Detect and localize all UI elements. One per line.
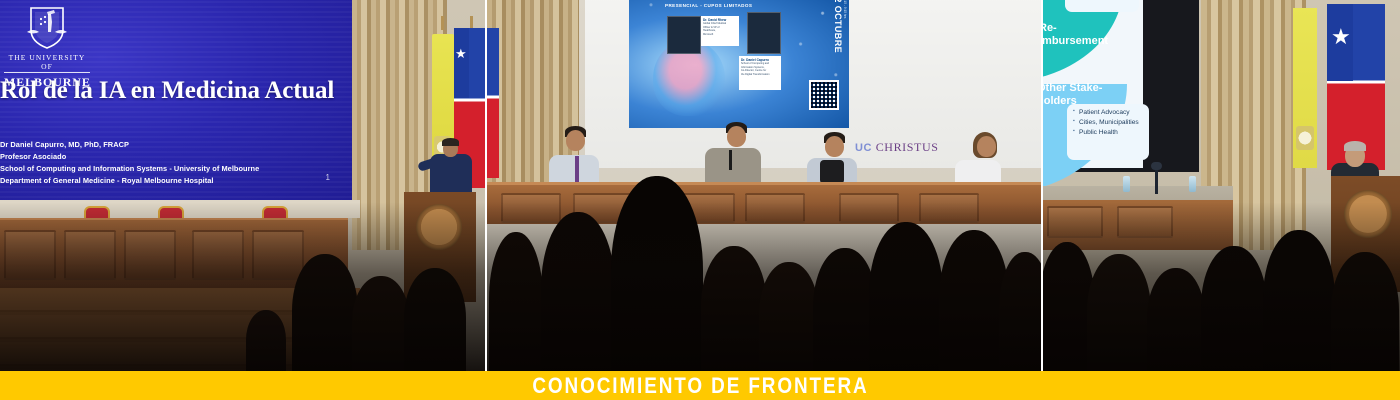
- speaker-head: [443, 140, 458, 157]
- poster-date-detail: 08:15 - 9:15 hrs: [843, 0, 847, 18]
- speaker-hair: [1344, 141, 1366, 151]
- callout-stakeholder-list: Patient Advocacy Cities, Municipalities …: [1067, 104, 1149, 160]
- panel-table: [487, 182, 1043, 224]
- logo-name: CHRISTUS: [876, 140, 939, 154]
- speaker-affiliation: Global Chief Medical Officer & VP of Hea…: [703, 22, 737, 37]
- university-seal-icon: [1344, 190, 1392, 238]
- speaker-photo: [747, 12, 781, 54]
- university-crest-icon: [21, 0, 73, 52]
- callout-philanthropy: Philanthropy: [1065, 0, 1139, 12]
- chile-flag: [487, 28, 499, 178]
- panel-3-photo: Re-imbursement Other Stake-holders Phila…: [1043, 0, 1400, 372]
- carved-podium: [1331, 176, 1400, 292]
- speaker-card: Dr. Daniel Capurro School of Computing a…: [739, 56, 781, 90]
- university-seal-icon: [416, 204, 462, 250]
- vatican-flag: [1293, 8, 1317, 168]
- speaker-card: Dr. David Rhew Global Chief Medical Offi…: [701, 16, 739, 46]
- subtitle-line-3: School of Computing and Information Syst…: [0, 163, 340, 175]
- logo-line-1: THE UNIVERSITY OF: [4, 53, 90, 73]
- flag-pole: [441, 16, 444, 30]
- callout-item: Cities, Municipalities: [1073, 118, 1143, 128]
- poster-availability: PRESENCIAL - CUPOS LIMITADOS: [665, 3, 752, 8]
- slide-number: 1: [326, 173, 330, 182]
- slide-title: Rol de la IA en Medicina Actual: [0, 78, 348, 103]
- uc-christus-logo: UC CHRISTUS: [855, 140, 939, 155]
- subtitle-line-2: Profesor Asociado: [0, 151, 340, 163]
- banner-text: CONOCIMIENTO DE FRONTERA: [532, 373, 868, 399]
- microphone: [1155, 168, 1158, 194]
- poster-header: Division de Medicina Centro de Informati…: [663, 0, 813, 1]
- water-bottle: [1189, 176, 1196, 192]
- speaker-affiliation: School of Computing and Information Syst…: [741, 62, 779, 77]
- collage-stage: THE UNIVERSITY OF MELBOURNE Rol de la IA…: [0, 0, 1400, 400]
- slide-subtitle-block: Dr Daniel Capurro, MD, PhD, FRACP Profes…: [0, 139, 340, 187]
- speaker-photo: [667, 16, 701, 54]
- projected-event-poster: Division de Medicina Centro de Informati…: [629, 0, 849, 128]
- water-bottle: [1123, 176, 1130, 192]
- bottom-banner: CONOCIMIENTO DE FRONTERA: [0, 371, 1400, 400]
- logo-prefix: UC: [855, 142, 872, 154]
- wooden-bench: [0, 218, 348, 290]
- carved-podium: [404, 192, 476, 302]
- poster-date: 02 OCTUBRE: [833, 0, 843, 53]
- speaker-name: Dr. Daniel Capurro: [741, 58, 769, 62]
- speaker-name: Dr. David Rhew: [703, 18, 726, 22]
- donut-label-reimbursement: Re-imbursement: [1043, 22, 1111, 47]
- subtitle-line-4: Department of General Medicine - Royal M…: [0, 175, 340, 187]
- callout-item: Patient Advocacy: [1073, 108, 1143, 118]
- callout-item: Public Health: [1073, 128, 1143, 138]
- panel-2-photo: Division de Medicina Centro de Informati…: [487, 0, 1043, 372]
- wooden-bench: [1043, 200, 1233, 250]
- microphone-head: [1151, 162, 1162, 170]
- qr-code-icon: [809, 80, 839, 110]
- wooden-steps: [0, 288, 360, 372]
- poster-header-line-2: Centro de Informatica: [663, 0, 813, 1]
- subtitle-line-1: Dr Daniel Capurro, MD, PhD, FRACP: [0, 139, 340, 151]
- projected-title-slide: THE UNIVERSITY OF MELBOURNE Rol de la IA…: [0, 0, 354, 202]
- panel-1-photo: THE UNIVERSITY OF MELBOURNE Rol de la IA…: [0, 0, 487, 372]
